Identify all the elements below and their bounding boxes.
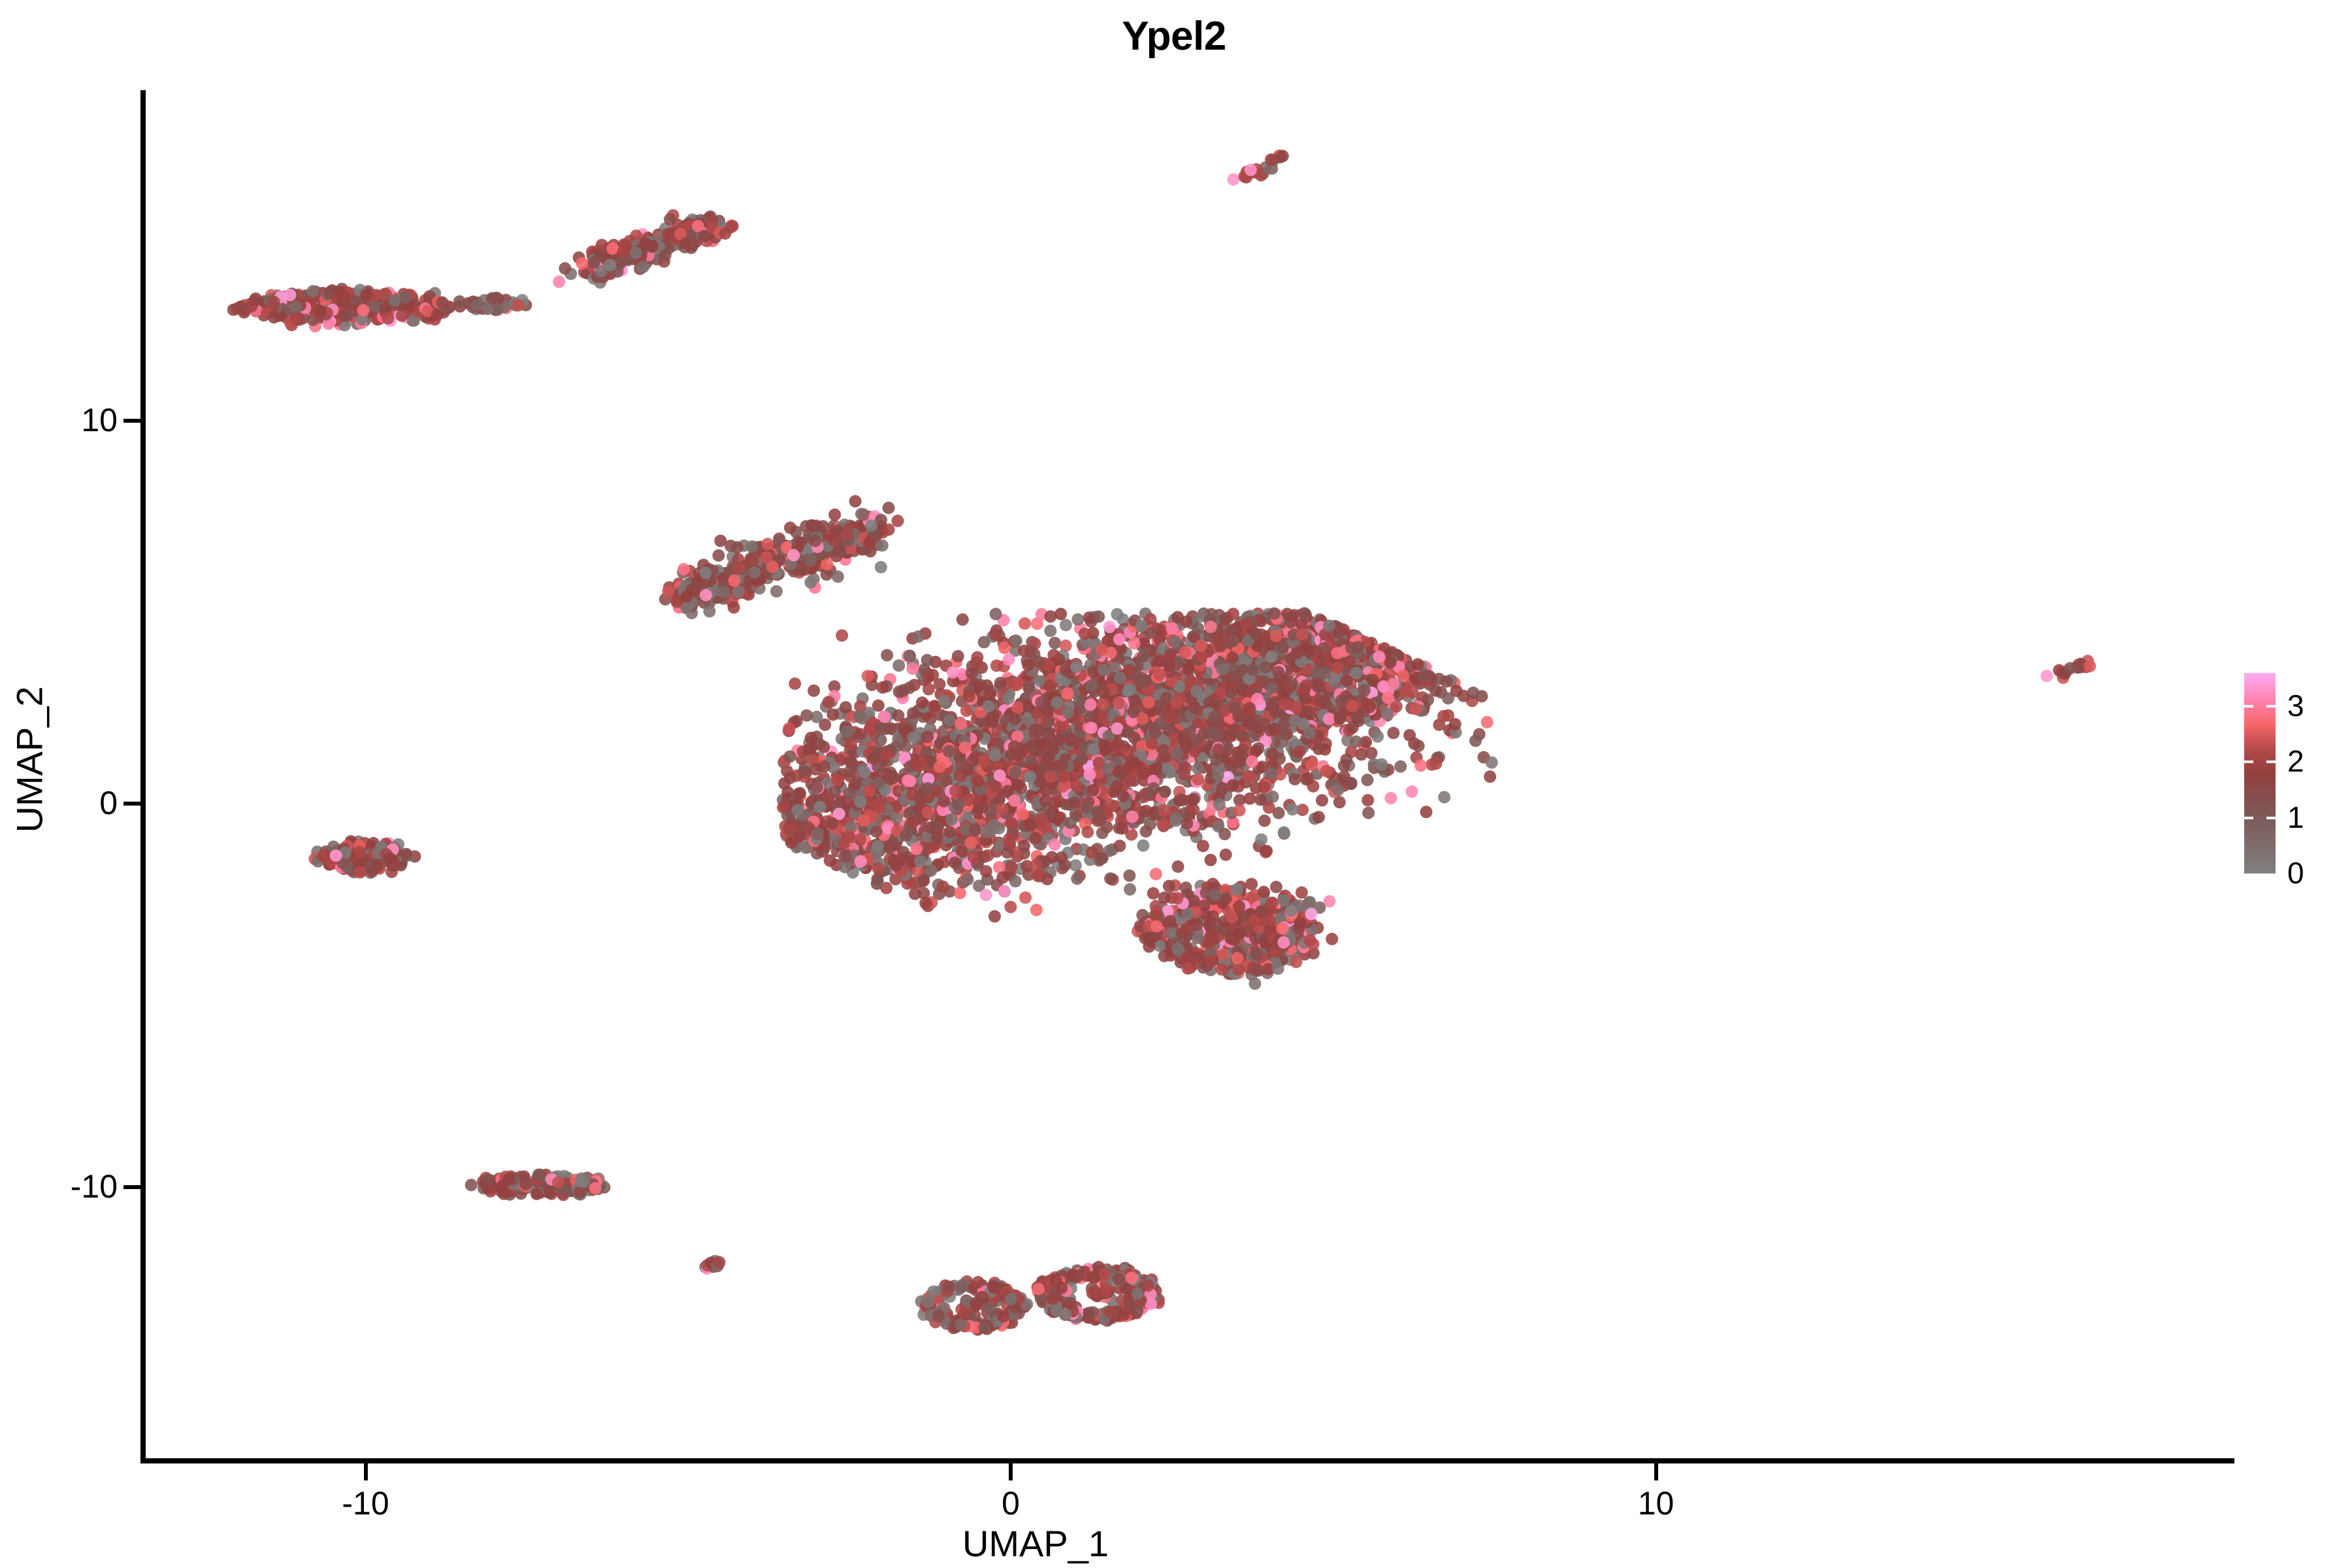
x-axis-line — [140, 1458, 2234, 1463]
legend-label: 0 — [2287, 858, 2304, 888]
legend-label: 3 — [2287, 691, 2304, 721]
legend-tick-mark — [2244, 705, 2253, 708]
x-tick-label: 10 — [1558, 1484, 1754, 1522]
legend-tick-mark — [2266, 760, 2276, 763]
x-tick-label: 0 — [913, 1484, 1109, 1522]
x-tick-mark — [1009, 1463, 1013, 1480]
legend-colorbar — [2244, 673, 2276, 874]
y-tick-mark — [123, 802, 140, 806]
y-tick-mark — [123, 1185, 140, 1189]
x-tick-label: -10 — [268, 1484, 464, 1522]
y-tick-label: -10 — [0, 1168, 118, 1205]
legend-tick-mark — [2244, 760, 2253, 763]
legend-tick-mark — [2266, 817, 2276, 819]
legend-label: 1 — [2287, 802, 2304, 832]
legend-tick-mark — [2244, 817, 2253, 819]
x-axis-label: UMAP_1 — [0, 1522, 2071, 1565]
x-tick-mark — [364, 1463, 368, 1480]
color-legend: 3210 — [2238, 666, 2352, 882]
page-title: Ypel2 — [0, 13, 2352, 59]
legend-label: 2 — [2287, 746, 2304, 776]
y-tick-label: 10 — [0, 401, 118, 439]
y-axis-label: UMAP_2 — [8, 590, 51, 930]
x-tick-mark — [1654, 1463, 1658, 1480]
y-tick-mark — [123, 419, 140, 423]
scatter-points-layer — [0, 0, 2352, 1568]
legend-tick-mark — [2266, 705, 2276, 708]
y-axis-line — [140, 90, 146, 1463]
umap-feature-plot: Ypel2 -10010 100-10 UMAP_1 UMAP_2 3210 — [0, 0, 2352, 1568]
plot-title-text: Ypel2 — [1122, 13, 1226, 59]
